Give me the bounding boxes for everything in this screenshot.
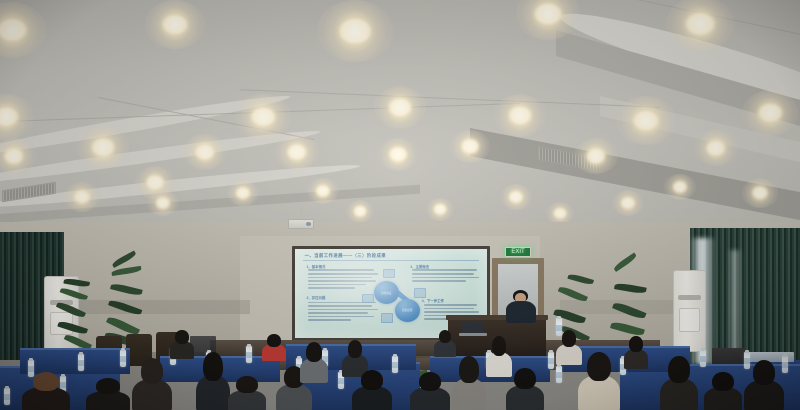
bottle-label <box>4 394 10 400</box>
audience-member <box>228 376 266 410</box>
audience-head <box>33 372 60 391</box>
slide-text-line <box>308 316 373 318</box>
water-bottle[interactable] <box>700 350 706 367</box>
bottle-cap <box>783 354 786 357</box>
diagram-node-a-label: 机制建设 <box>381 291 391 295</box>
presenter-torso <box>506 301 536 323</box>
audience-head <box>712 372 733 391</box>
audience-head <box>267 334 280 347</box>
audience-member <box>86 378 130 410</box>
slide-text-line <box>308 277 371 279</box>
audience-member <box>22 372 70 410</box>
audience-head <box>175 330 188 344</box>
bottle-label <box>556 372 562 378</box>
audience-member <box>132 358 172 410</box>
diagram-node-b: 组织保障 <box>395 299 420 322</box>
audience-head <box>459 356 478 383</box>
exit-sign-label: EXIT <box>511 249 524 255</box>
podium-laptop-keyboard <box>459 333 487 336</box>
slide-text-line <box>308 269 373 271</box>
audience-head <box>439 330 451 343</box>
audience-head <box>306 342 322 362</box>
bottle-cap <box>5 386 8 389</box>
slide-text-line <box>308 273 377 275</box>
bottle-cap <box>745 350 748 353</box>
slide-text-line <box>424 311 480 313</box>
slide-section-left-1: 1、基本情况 <box>307 264 326 269</box>
diagram-node-a: 机制建设 <box>374 281 399 304</box>
audience-table-row2-left <box>20 348 130 374</box>
slide-text-line <box>308 284 366 286</box>
audience-member <box>300 342 328 382</box>
slide-text-line <box>308 280 375 282</box>
slide-text-line <box>412 273 473 275</box>
bottle-label <box>78 360 84 366</box>
diagram-icon-right <box>414 288 426 298</box>
audience-head <box>96 378 121 394</box>
slide-text-line <box>308 287 354 289</box>
audience-head <box>236 376 257 393</box>
slide-text-line <box>308 312 368 314</box>
slide-section-right-2: 4、下一步工作 <box>422 298 444 303</box>
water-bottle[interactable] <box>246 346 252 363</box>
slide-text-line <box>424 304 478 306</box>
bottle-cap <box>79 352 82 355</box>
audience-head <box>141 358 163 384</box>
water-bottle[interactable] <box>78 354 84 371</box>
audience-member <box>744 360 784 410</box>
bottle-cap <box>121 348 124 351</box>
ceiling-projector <box>288 219 314 229</box>
bottle-label <box>246 352 252 358</box>
slide-text-line <box>308 305 371 307</box>
audience-member <box>352 370 392 410</box>
water-bottle[interactable] <box>392 356 398 373</box>
slide-title-rule <box>303 260 480 261</box>
audience-head <box>514 368 535 389</box>
audience-head <box>203 352 222 381</box>
bottle-cap <box>393 354 396 357</box>
bottle-cap <box>557 316 560 319</box>
audience-head <box>753 360 775 385</box>
diagram-icon-bottom <box>381 313 393 323</box>
bottle-label <box>700 356 706 362</box>
diagram-icon-top <box>383 269 395 279</box>
slide-text-line <box>308 309 377 311</box>
audience-head <box>562 330 577 347</box>
water-bottle[interactable] <box>120 350 126 367</box>
bottle-label <box>548 358 554 364</box>
audience-head <box>587 352 611 381</box>
audience-head <box>361 370 383 390</box>
water-bottle[interactable] <box>548 352 554 369</box>
bottle-cap <box>549 350 552 353</box>
exit-sign: EXIT <box>505 247 531 257</box>
slide-text-line <box>412 269 477 271</box>
diagram-node-b-label: 组织保障 <box>402 308 412 312</box>
slide-text-line <box>424 308 474 310</box>
ac-panel-right <box>679 308 700 332</box>
audience-head <box>668 356 689 383</box>
ac-vent-slot-right <box>678 295 700 300</box>
conference-room-photo: EXIT 一、当前工作进展——（三）阶段成果 1、基本情况 2、存在问题 3、主… <box>0 0 800 410</box>
audience-member <box>170 330 194 358</box>
audience-member <box>624 336 648 368</box>
audience-head <box>492 336 507 356</box>
bottle-label <box>120 356 126 362</box>
bottle-cap <box>247 344 250 347</box>
slide-text-line <box>308 319 350 321</box>
audience-member <box>704 372 742 410</box>
bottle-label <box>392 362 398 368</box>
slide-section-right-1: 3、主要做法 <box>410 264 429 269</box>
diagram-icon-left <box>362 294 374 304</box>
slide-text-line <box>412 277 479 279</box>
audience-head <box>348 340 363 358</box>
water-bottle[interactable] <box>556 366 562 383</box>
bottle-cap <box>29 358 32 361</box>
audience-member <box>578 352 620 410</box>
audience-member <box>452 356 486 410</box>
audience-member <box>506 368 544 410</box>
water-bottle[interactable] <box>4 388 10 405</box>
slide-text-line <box>412 280 466 282</box>
audience-member <box>410 372 450 410</box>
audience-head <box>419 372 441 391</box>
audience-member <box>434 330 456 356</box>
audience-member <box>196 352 230 410</box>
presenter <box>504 290 538 324</box>
bottle-label <box>338 378 344 384</box>
audience-head <box>629 336 642 352</box>
air-conditioner-right <box>673 270 706 352</box>
projector-lens <box>306 222 311 226</box>
audience-member <box>262 334 286 360</box>
bottle-cap <box>701 348 704 351</box>
slide-title: 一、当前工作进展——（三）阶段成果 <box>305 253 386 259</box>
audience-member <box>660 356 698 410</box>
slide-section-left-2: 2、存在问题 <box>307 295 326 300</box>
window-light-right-2 <box>728 250 742 354</box>
